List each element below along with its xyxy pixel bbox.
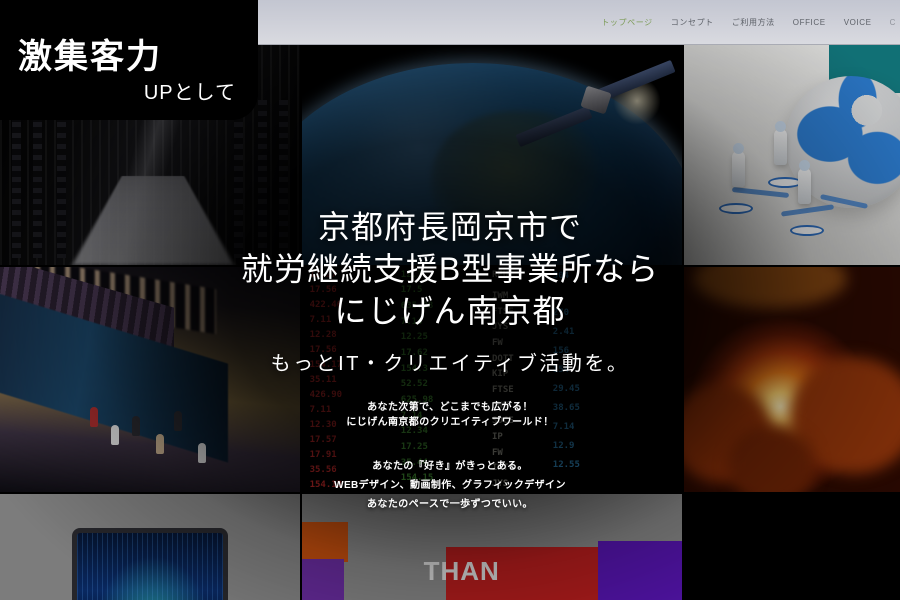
nav-item-4[interactable]: VOICE [844,18,872,27]
nav-item-2[interactable]: ご利用方法 [732,17,775,28]
hero-subheadline: もっとIT・クリエイティブ活動を。 [271,347,630,376]
nav-item-3[interactable]: OFFICE [793,18,826,27]
nav-item-1[interactable]: コンセプト [671,17,714,28]
tagline-a-line-2: にじげん南京都のクリエイティブワールド！ [346,415,553,431]
tagline-a-line-1: あなた次第で、どこまでも広がる！ [346,400,553,416]
nav-item-0[interactable]: トップページ [601,17,652,28]
nav-item-5[interactable]: C [890,18,896,27]
tagline-b-line-3: あなたのペースで一歩ずつでいい。 [334,495,566,514]
headline-line-1: 京都府長岡京市で [241,206,659,248]
headline-line-2: 就労継続支援B型事業所なら [241,248,659,290]
headline-line-3: にじげん南京都 [241,290,659,332]
hero-tagline-block-a: あなた次第で、どこまでも広がる！ にじげん南京都のクリエイティブワールド！ [346,400,553,431]
logo-main-text: 激集客力 [18,40,258,74]
tagline-b-line-2: WEBデザイン、動画制作、グラフィックデザイン [334,476,566,495]
main-navigation[interactable]: トップページコンセプトご利用方法OFFICEVOICEC [601,0,900,45]
logo-sub-text: UPとして [18,76,258,105]
tagline-b-line-1: あなたの『好き』がきっとある。 [334,457,566,476]
hero-tagline-block-b: あなたの『好き』がきっとある。 WEBデザイン、動画制作、グラフィックデザイン … [334,457,566,514]
hero-headline: 京都府長岡京市で 就労継続支援B型事業所なら にじげん南京都 [241,206,659,333]
hero-page: 12.2717.56422.467.1112.2817.56154.1735.1… [0,0,900,600]
site-logo[interactable]: 激集客力 UPとして [0,0,258,120]
